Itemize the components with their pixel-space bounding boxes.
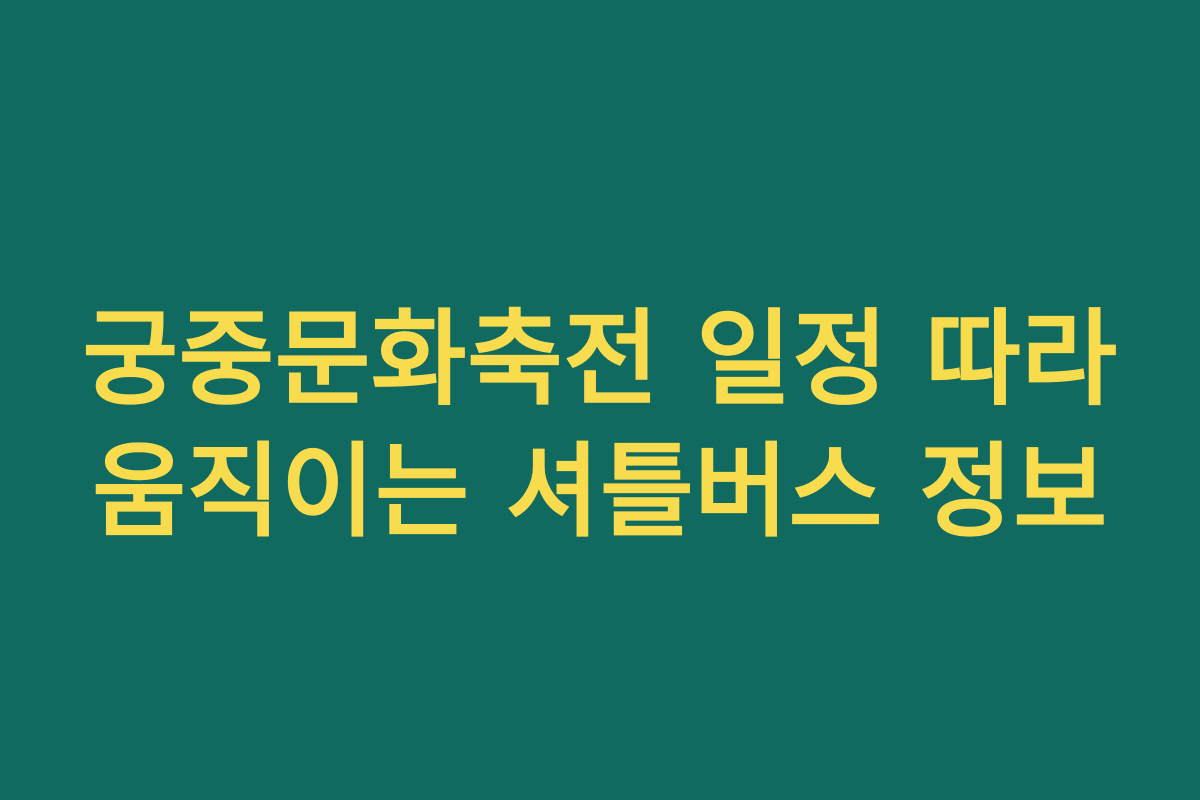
headline-line-2: 움직이는 셔틀버스 정보 xyxy=(0,426,1200,560)
title-card: 궁중문화축전 일정 따라 움직이는 셔틀버스 정보 xyxy=(0,0,1200,800)
headline-line-1: 궁중문화축전 일정 따라 xyxy=(0,292,1200,426)
headline-block: 궁중문화축전 일정 따라 움직이는 셔틀버스 정보 xyxy=(0,292,1200,560)
